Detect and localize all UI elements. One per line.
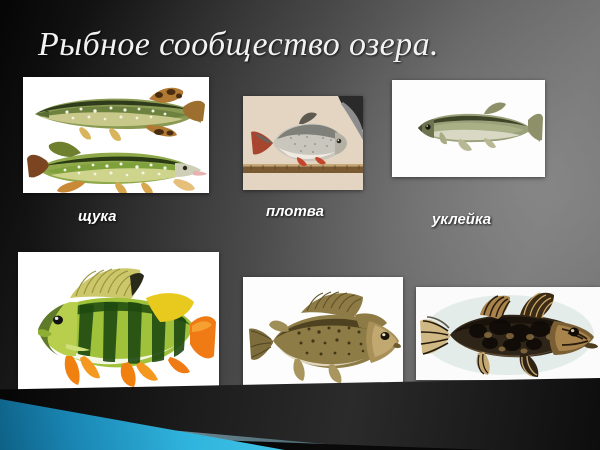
page-title: Рыбное сообщество озера.	[38, 26, 439, 64]
photo-pike[interactable]	[23, 77, 209, 193]
crucian-illustration	[18, 252, 219, 392]
caption-pike: щука	[78, 208, 117, 225]
caption-roach: плотва	[266, 203, 324, 220]
photo-ruffe[interactable]	[243, 277, 403, 394]
bleak-illustration	[392, 80, 545, 177]
photo-rotan[interactable]	[416, 287, 600, 380]
decorative-bottom-band	[0, 378, 600, 450]
pike-illustration	[23, 77, 209, 193]
photo-bleak[interactable]	[392, 80, 545, 177]
photo-roach[interactable]	[243, 96, 363, 190]
photo-crucian[interactable]	[18, 252, 219, 392]
roach-illustration	[243, 96, 363, 190]
ruffe-illustration	[243, 277, 403, 394]
caption-bleak: уклейка	[432, 211, 491, 228]
slide-canvas: Рыбное сообщество озера.	[0, 0, 600, 450]
rotan-illustration	[416, 287, 600, 380]
